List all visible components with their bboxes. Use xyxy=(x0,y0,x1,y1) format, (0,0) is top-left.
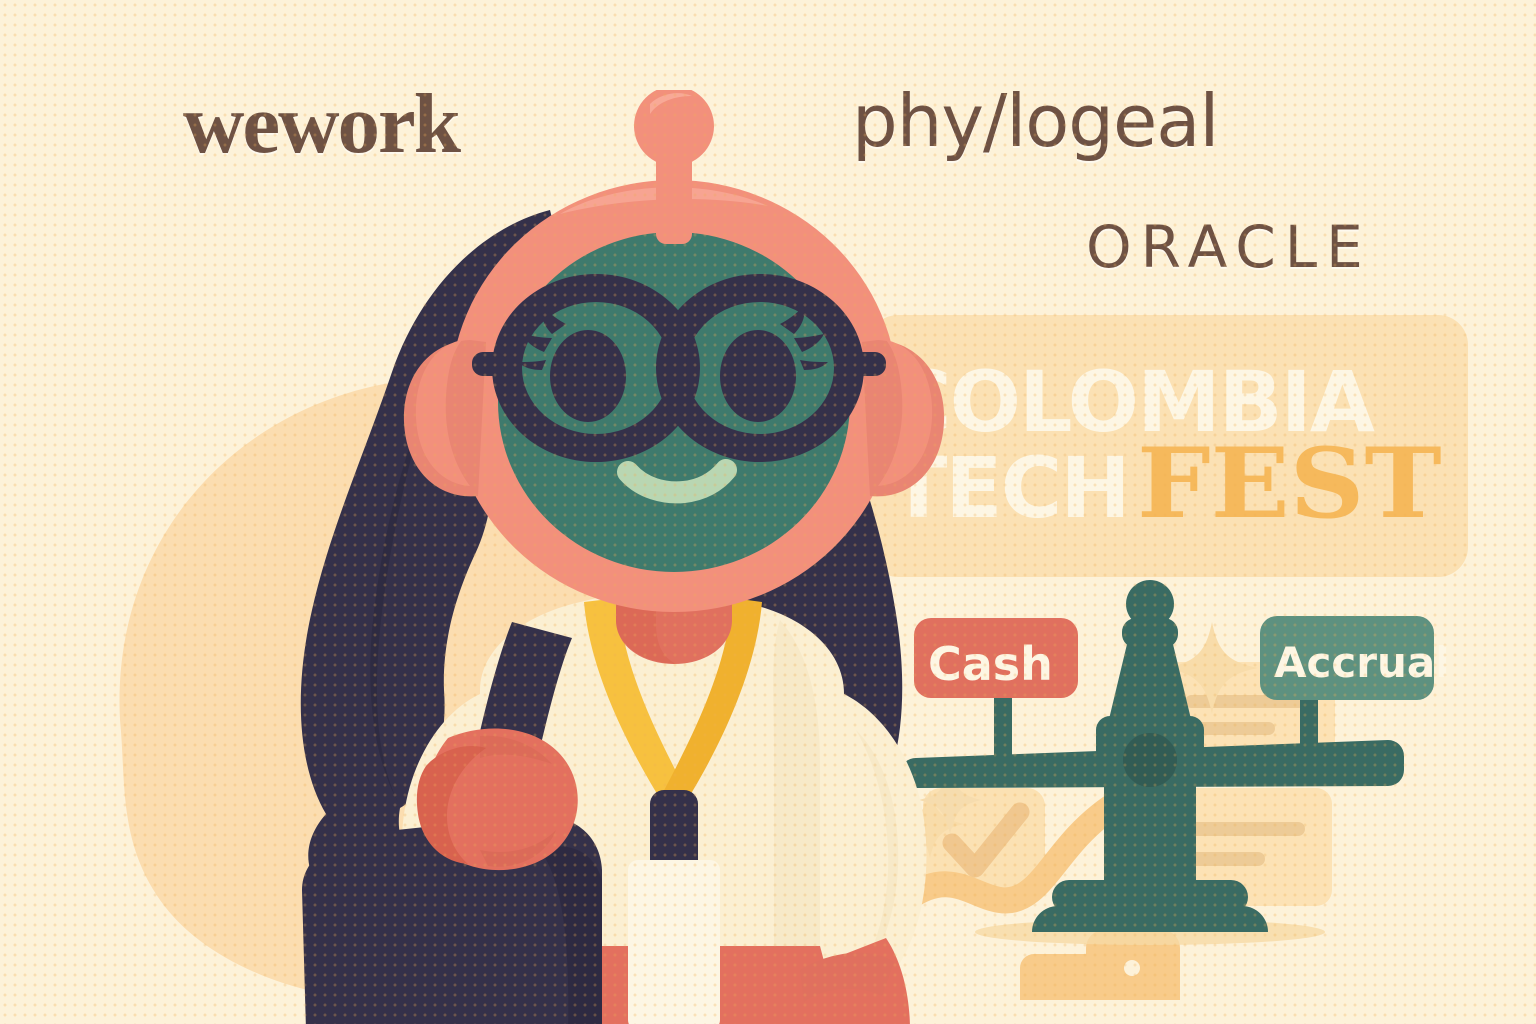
title-fest: FEST xyxy=(1137,441,1442,527)
white-badge-card xyxy=(628,860,720,1024)
cash-sign-label: Cash xyxy=(928,637,1053,691)
gripping-hand xyxy=(417,729,578,871)
astronaut-attendee xyxy=(180,90,1020,1024)
oracle-logo: ORACLE xyxy=(1086,218,1372,276)
poster-canvas: COLOMBIA TECH FEST wework phy/logeal ORA… xyxy=(0,0,1536,1024)
accrual-sign-label: Accrual xyxy=(1274,638,1450,687)
scale-pivot xyxy=(1123,733,1177,787)
scale-finial xyxy=(1126,580,1174,628)
